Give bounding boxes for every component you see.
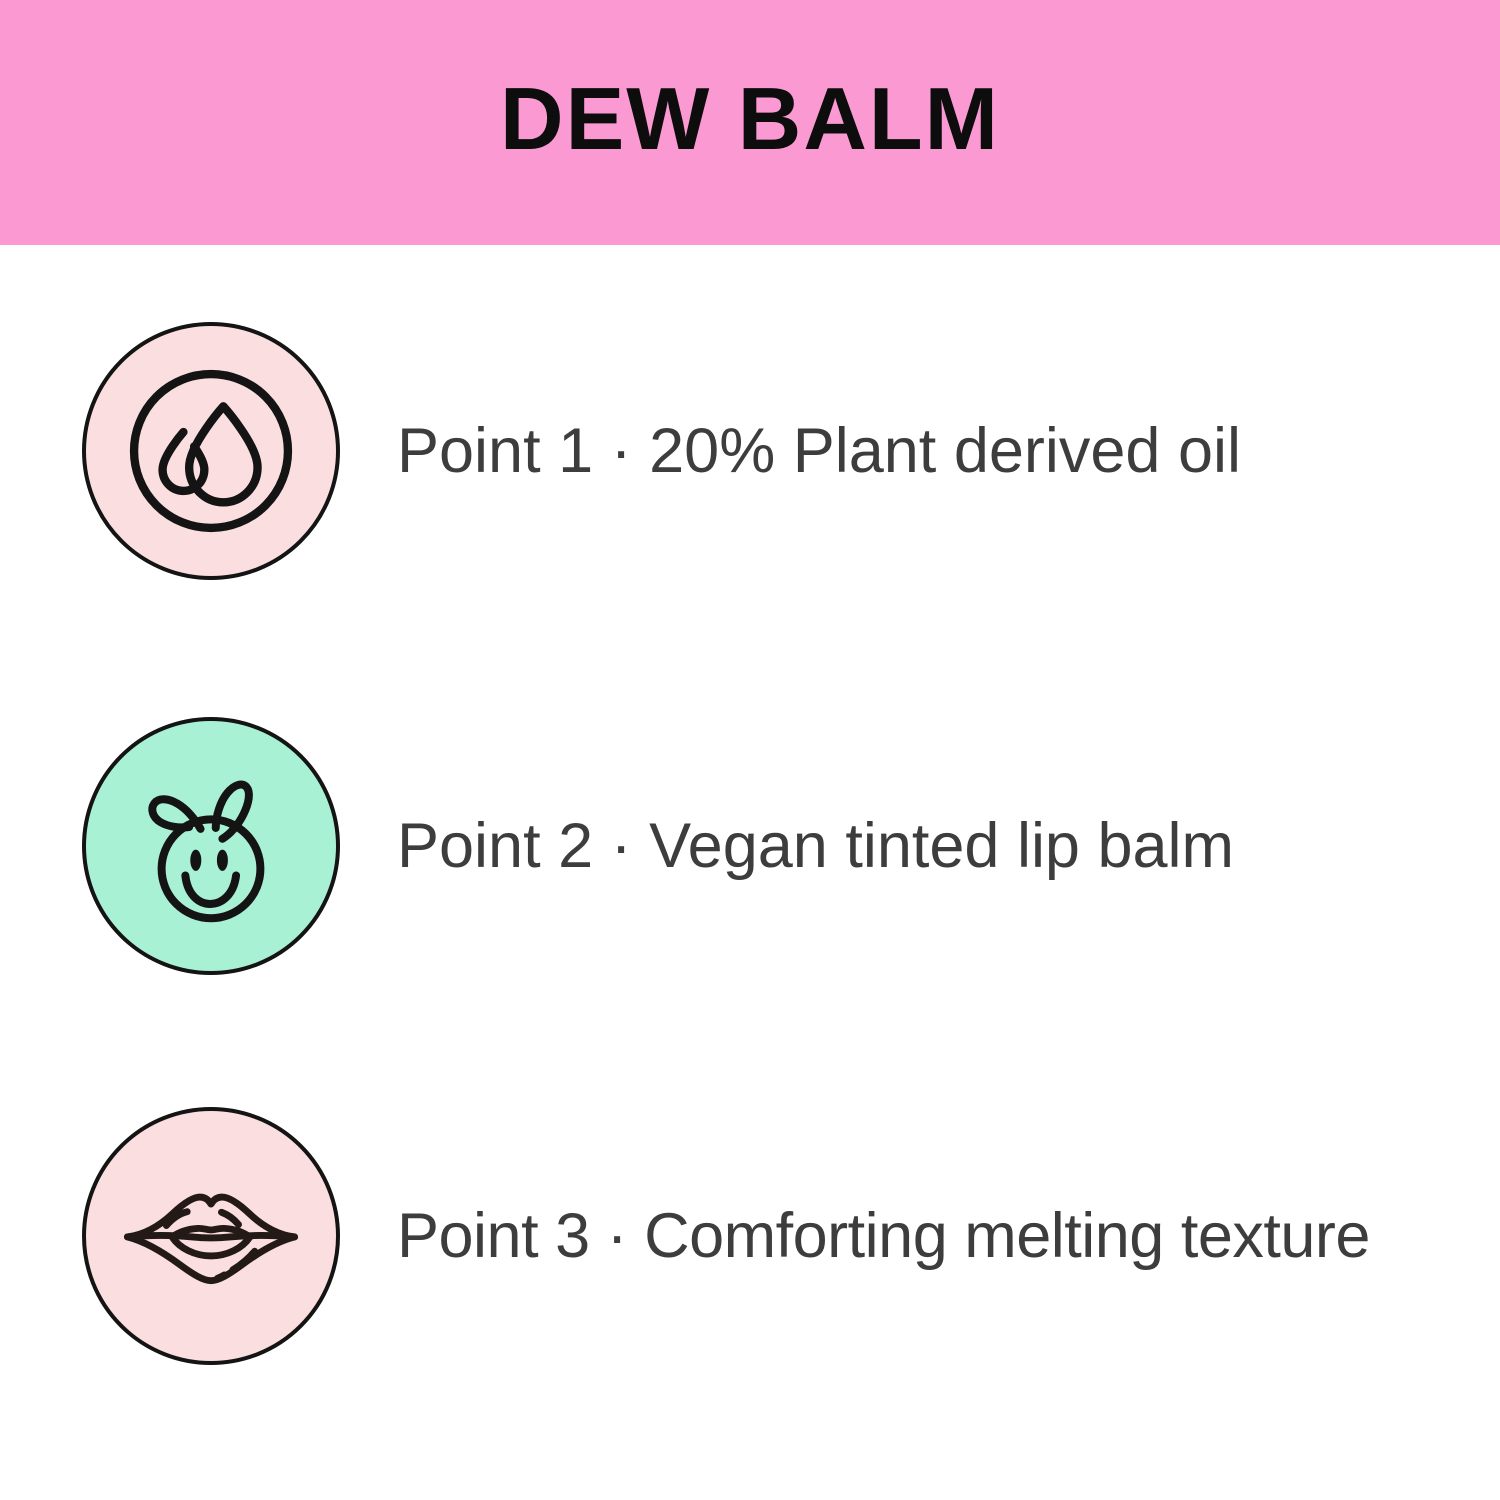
list-item: Point 3 · Comforting melting texture xyxy=(82,1107,1482,1365)
header-banner: DEW BALM xyxy=(0,0,1500,245)
water-droplet-icon xyxy=(116,356,306,546)
list-item: Point 1 · 20% Plant derived oil xyxy=(82,322,1482,580)
point-badge-2 xyxy=(82,717,340,975)
page-title: DEW BALM xyxy=(500,75,1000,163)
product-feature-graphic: DEW BALM Point 1 · 20% Plant derived oil xyxy=(0,0,1500,1500)
lips-icon xyxy=(116,1141,306,1331)
point-badge-3 xyxy=(82,1107,340,1365)
list-item: Point 2 · Vegan tinted lip balm xyxy=(82,717,1482,975)
point-badge-1 xyxy=(82,322,340,580)
points-list: Point 1 · 20% Plant derived oil xyxy=(0,245,1500,1500)
bunny-smiley-icon xyxy=(116,751,306,941)
point-label-3: Point 3 · Comforting melting texture xyxy=(397,1203,1370,1269)
point-label-1: Point 1 · 20% Plant derived oil xyxy=(397,418,1241,484)
point-label-2: Point 2 · Vegan tinted lip balm xyxy=(397,813,1234,879)
